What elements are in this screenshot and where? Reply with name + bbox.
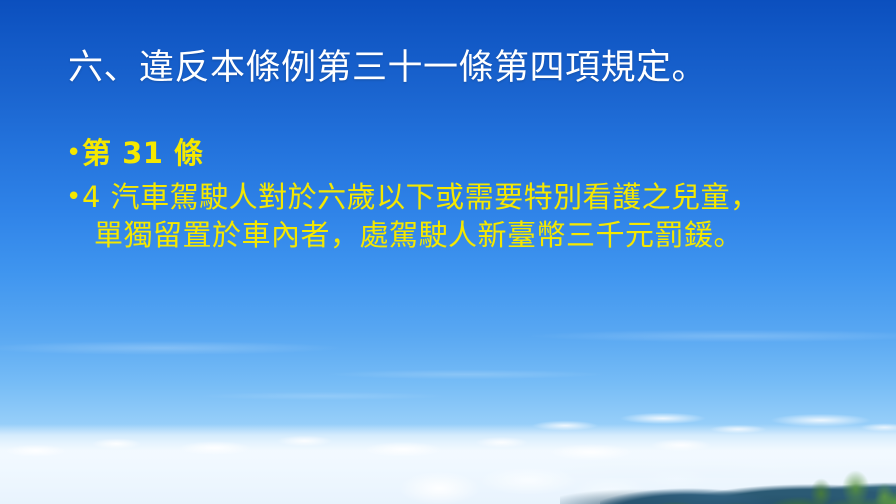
presentation-slide: 六、違反本條例第三十一條第四項規定。 • 第 31 條 • 4 汽車駕駛人對於六… bbox=[0, 0, 896, 504]
bullet-dot-icon: • bbox=[66, 134, 82, 172]
slide-title: 六、違反本條例第三十一條第四項規定。 bbox=[68, 46, 707, 90]
bullet-item-article-number: • 第 31 條 bbox=[66, 134, 872, 172]
bullet-text-line-2: 單獨留置於車內者，處駕駛人新臺幣三千元罰鍰。 bbox=[94, 216, 872, 254]
bullet-list: • 第 31 條 • 4 汽車駕駛人對於六歲以下或需要特別看護之兒童，單獨留置於… bbox=[66, 134, 872, 254]
bullet-text-article-number: 第 31 條 bbox=[82, 134, 872, 172]
bullet-text-line-1: 4 汽車駕駛人對於六歲以下或需要特別看護之兒童， bbox=[82, 180, 760, 214]
bullet-item-article-body: • 4 汽車駕駛人對於六歲以下或需要特別看護之兒童，單獨留置於車內者，處駕駛人新… bbox=[66, 178, 872, 254]
bullet-text-article-body: 4 汽車駕駛人對於六歲以下或需要特別看護之兒童，單獨留置於車內者，處駕駛人新臺幣… bbox=[82, 178, 872, 254]
bullet-dot-icon: • bbox=[66, 178, 82, 216]
slide-content: 六、違反本條例第三十一條第四項規定。 • 第 31 條 • 4 汽車駕駛人對於六… bbox=[0, 0, 896, 504]
